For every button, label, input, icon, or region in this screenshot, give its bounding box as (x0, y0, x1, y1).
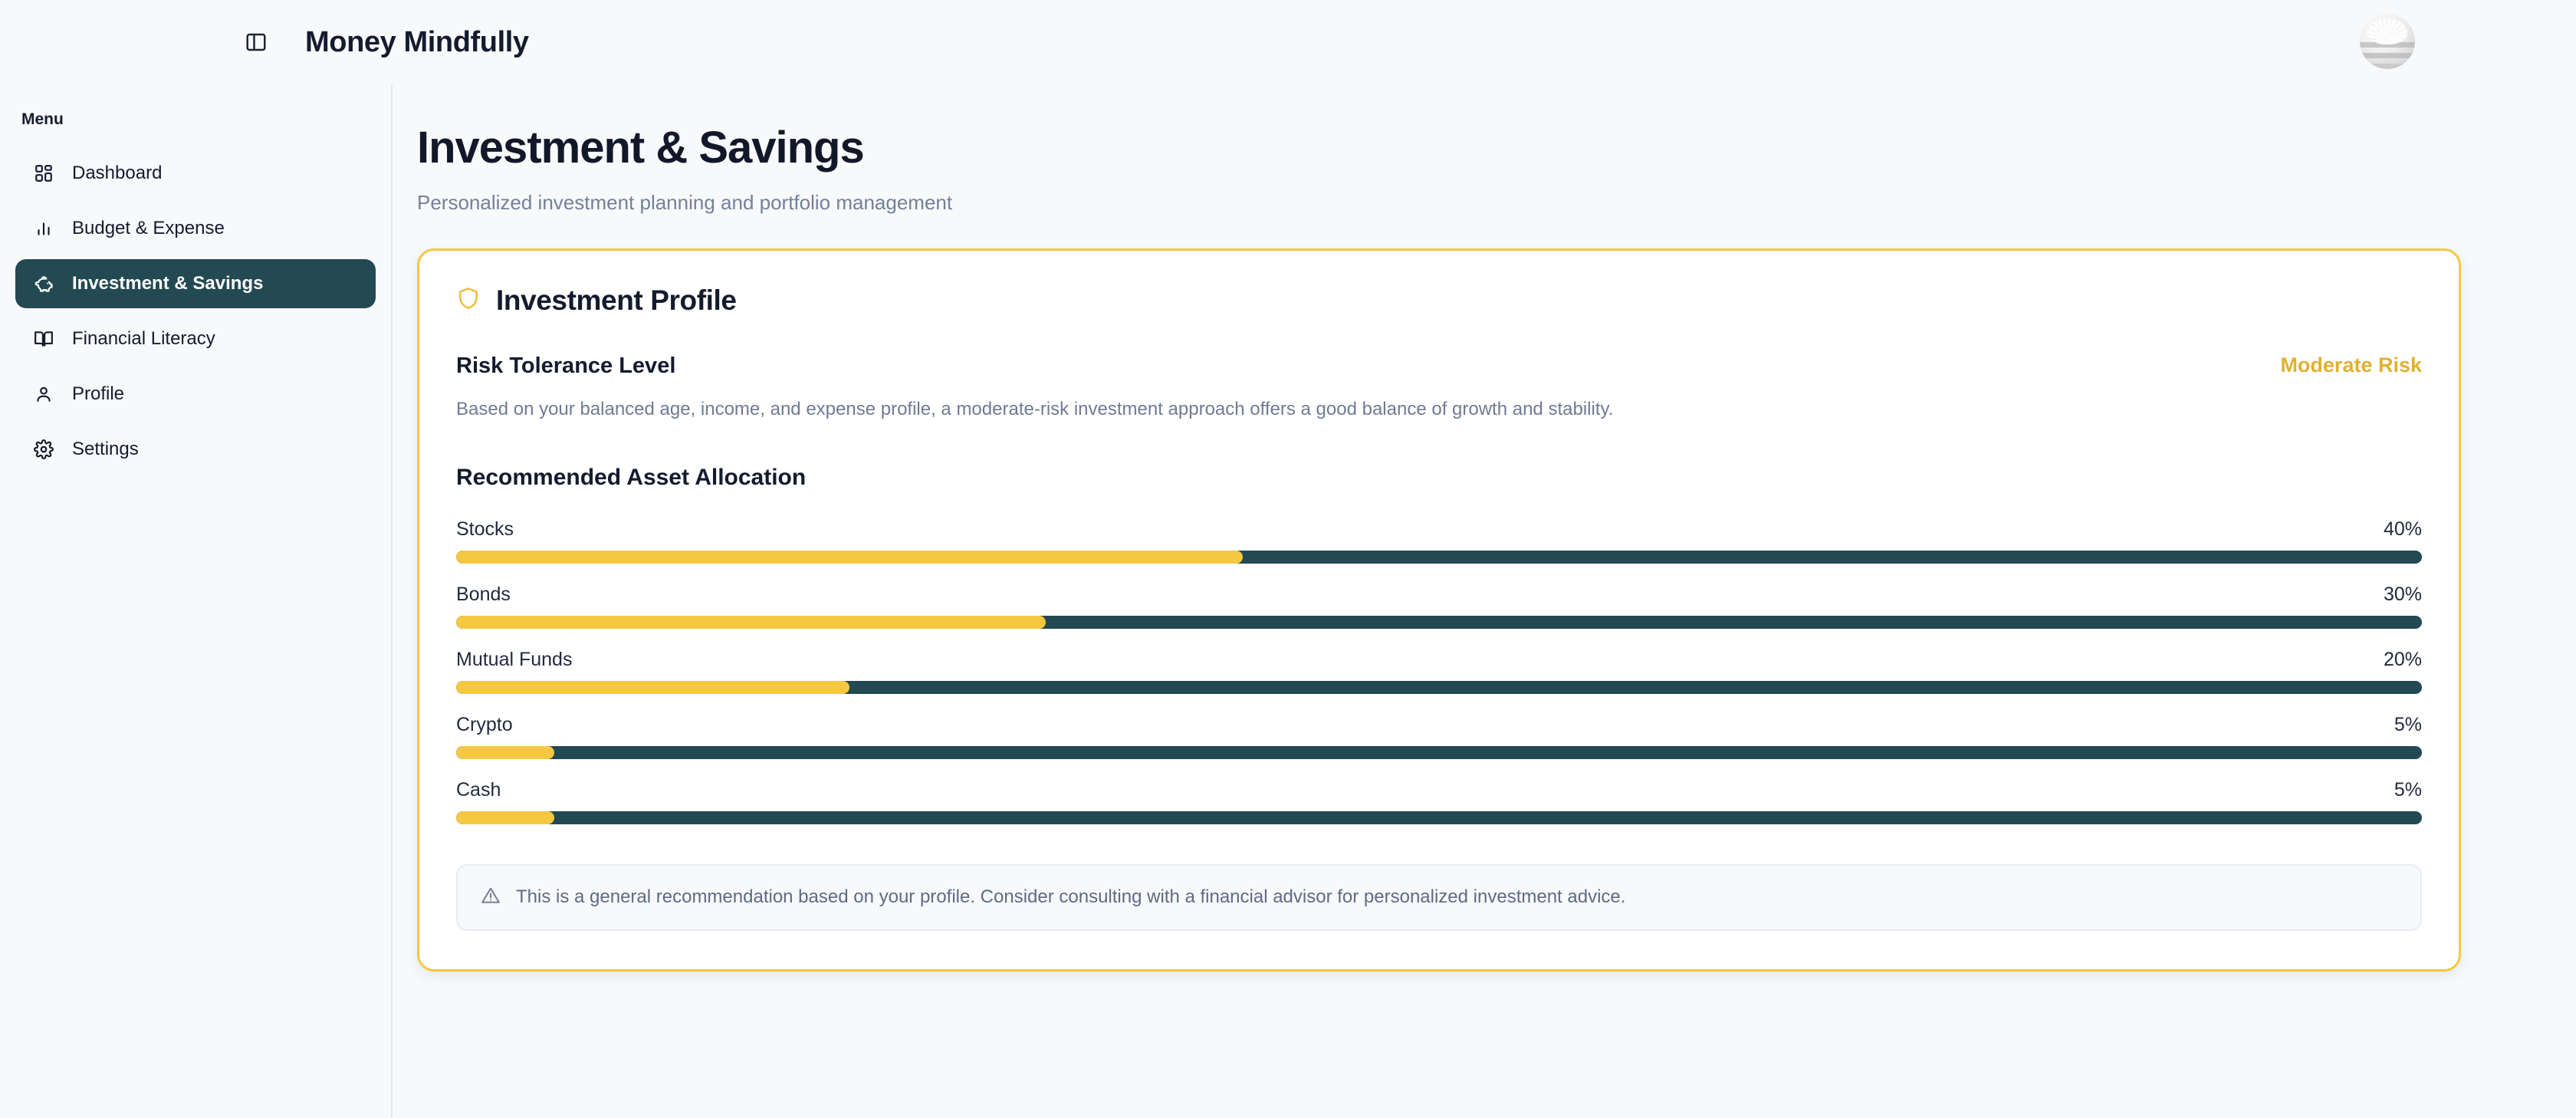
allocation-bar-track (456, 681, 2422, 694)
allocation-row: Crypto 5% (456, 714, 2422, 759)
top-header: Money Mindfully (0, 0, 2576, 84)
menu-heading: Menu (0, 110, 391, 129)
sidebar-item-label: Financial Literacy (72, 328, 215, 350)
allocation-bar-track (456, 746, 2422, 759)
alert-triangle-icon (481, 886, 501, 909)
risk-description: Based on your balanced age, income, and … (456, 399, 2422, 420)
asset-name: Bonds (456, 584, 511, 606)
sidebar-item-financial-literacy[interactable]: Financial Literacy (15, 314, 376, 363)
allocation-row: Stocks 40% (456, 518, 2422, 564)
asset-percent: 30% (2384, 584, 2422, 606)
sidebar: Menu Dashboard Budget & Expense Investme… (0, 84, 393, 1118)
card-header: Investment Profile (456, 284, 2422, 317)
sidebar-item-profile[interactable]: Profile (15, 370, 376, 419)
allocation-bar-track (456, 616, 2422, 629)
panel-toggle-icon[interactable] (239, 25, 273, 59)
asset-name: Mutual Funds (456, 649, 572, 671)
sidebar-item-label: Settings (72, 439, 139, 460)
allocation-title: Recommended Asset Allocation (456, 465, 2422, 491)
card-title: Investment Profile (496, 284, 737, 317)
allocation-row: Mutual Funds 20% (456, 649, 2422, 694)
asset-name: Stocks (456, 518, 514, 541)
asset-percent: 5% (2394, 714, 2422, 736)
allocation-bar-track (456, 551, 2422, 564)
risk-status-badge: Moderate Risk (2280, 353, 2422, 377)
sidebar-item-label: Profile (72, 383, 124, 405)
allocation-row: Cash 5% (456, 779, 2422, 824)
asset-percent: 5% (2394, 779, 2422, 801)
disclaimer-text: This is a general recommendation based o… (516, 886, 1625, 908)
risk-tolerance-label: Risk Tolerance Level (456, 353, 675, 379)
sidebar-item-settings[interactable]: Settings (15, 425, 376, 474)
page-subtitle: Personalized investment planning and por… (417, 191, 2461, 215)
asset-name: Cash (456, 779, 501, 801)
sidebar-item-investment-savings[interactable]: Investment & Savings (15, 259, 376, 308)
sidebar-item-budget-expense[interactable]: Budget & Expense (15, 204, 376, 253)
allocation-bar-fill (456, 811, 554, 824)
asset-percent: 20% (2384, 649, 2422, 671)
allocation-bar-fill (456, 616, 1046, 629)
allocation-bar-fill (456, 681, 849, 694)
piggy-bank-icon (32, 272, 55, 295)
sidebar-item-label: Dashboard (72, 163, 162, 184)
bar-chart-icon (32, 217, 55, 240)
grid-icon (32, 162, 55, 185)
sidebar-item-dashboard[interactable]: Dashboard (15, 149, 376, 198)
sidebar-item-label: Budget & Expense (72, 218, 225, 239)
page-title: Investment & Savings (417, 123, 2461, 174)
investment-profile-card: Investment Profile Risk Tolerance Level … (417, 248, 2461, 972)
allocation-bar-track (456, 811, 2422, 824)
disclaimer-note: This is a general recommendation based o… (456, 864, 2422, 931)
asset-name: Crypto (456, 714, 513, 736)
user-icon (32, 383, 55, 406)
risk-tolerance-row: Risk Tolerance Level Moderate Risk (456, 353, 2422, 379)
allocation-row: Bonds 30% (456, 584, 2422, 629)
app-title: Money Mindfully (305, 26, 529, 59)
asset-percent: 40% (2384, 518, 2422, 541)
main-content: Investment & Savings Personalized invest… (393, 84, 2576, 1118)
shield-icon (456, 286, 481, 314)
allocation-bar-fill (456, 551, 1243, 564)
sidebar-item-label: Investment & Savings (72, 273, 263, 294)
gear-icon (32, 438, 55, 461)
allocation-bar-fill (456, 746, 554, 759)
book-open-icon (32, 327, 55, 350)
user-avatar[interactable] (2360, 14, 2415, 69)
